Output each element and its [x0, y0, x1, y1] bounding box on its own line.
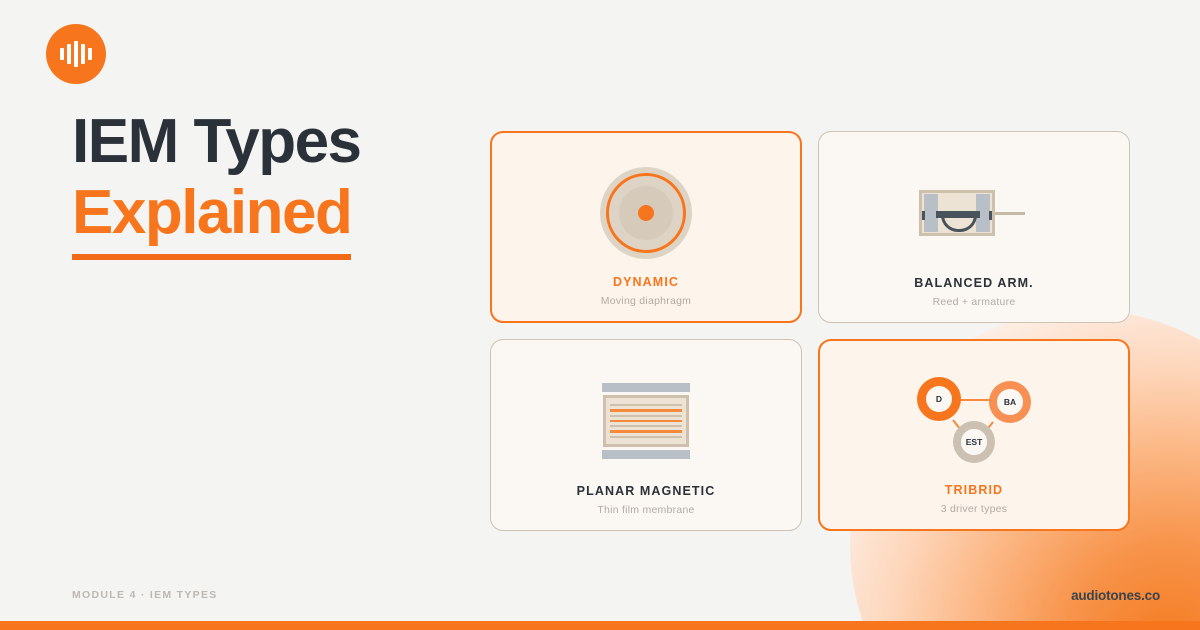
tribrid-node-balanced-armature: BA [989, 381, 1031, 423]
tribrid-node-electrostatic-label: EST [961, 429, 986, 454]
planar-trace [610, 415, 682, 417]
planar-trace-active [610, 409, 682, 412]
tribrid-link-d-ba [957, 399, 993, 401]
dynamic-driver-hub [638, 205, 654, 221]
tribrid-driver-icon: D BA EST [820, 359, 1128, 483]
card-tribrid[interactable]: D BA EST TRIBRID 3 driver types [818, 339, 1130, 531]
card-tribrid-subtitle: 3 driver types [820, 503, 1128, 515]
audio-waveform-icon-bar-5 [88, 48, 92, 60]
planar-magnet-plate-bottom [602, 450, 690, 459]
driver-type-grid: DYNAMIC Moving diaphragm [490, 131, 1130, 543]
footer-brand-url: audiotones.co [1071, 588, 1160, 603]
page-title-line-1: IEM Types [72, 110, 492, 173]
card-planar-magnetic[interactable]: PLANAR MAGNETIC Thin film membrane [490, 339, 802, 531]
planar-trace-active [610, 430, 682, 433]
audio-waveform-icon-bar-3 [74, 41, 78, 67]
planar-magnet-plate-top [602, 383, 690, 392]
card-planar-magnetic-title: PLANAR MAGNETIC [491, 484, 801, 498]
card-dynamic-title: DYNAMIC [492, 275, 800, 289]
card-dynamic-caption: DYNAMIC Moving diaphragm [492, 275, 800, 321]
planar-film-membrane [603, 395, 689, 447]
tribrid-node-dynamic-label: D [926, 386, 952, 412]
armature-pin-left [922, 211, 925, 220]
card-dynamic[interactable]: DYNAMIC Moving diaphragm [490, 131, 802, 323]
audio-waveform-icon-bar-2 [67, 44, 71, 64]
armature-coil [941, 215, 977, 232]
balanced-armature-icon [819, 150, 1129, 276]
tribrid-node-dynamic: D [917, 377, 961, 421]
brand-logo[interactable] [46, 24, 106, 84]
card-planar-magnetic-subtitle: Thin film membrane [491, 504, 801, 516]
footer-module-label: MODULE 4 · IEM TYPES [72, 589, 218, 601]
armature-sound-tube [995, 212, 1025, 215]
card-dynamic-subtitle: Moving diaphragm [492, 295, 800, 307]
audio-waveform-icon-bar-4 [81, 44, 85, 64]
tribrid-node-balanced-armature-label: BA [997, 389, 1022, 414]
planar-trace [610, 425, 682, 427]
card-balanced-armature-caption: BALANCED ARM. Reed + armature [819, 276, 1129, 322]
card-balanced-armature[interactable]: BALANCED ARM. Reed + armature [818, 131, 1130, 323]
card-balanced-armature-title: BALANCED ARM. [819, 276, 1129, 290]
armature-case [919, 190, 995, 236]
card-balanced-armature-subtitle: Reed + armature [819, 296, 1129, 308]
planar-magnetic-icon [491, 358, 801, 484]
dynamic-driver-icon [492, 151, 800, 275]
card-planar-magnetic-caption: PLANAR MAGNETIC Thin film membrane [491, 484, 801, 530]
armature-pin-right [989, 211, 992, 220]
card-tribrid-title: TRIBRID [820, 483, 1128, 497]
slide-canvas: IEM Types Explained DYNAMIC Moving diaph… [0, 0, 1200, 630]
page-title: IEM Types Explained [72, 110, 492, 260]
planar-trace [610, 436, 682, 438]
tribrid-node-electrostatic: EST [953, 421, 995, 463]
bottom-accent-bar [0, 621, 1200, 630]
card-tribrid-caption: TRIBRID 3 driver types [820, 483, 1128, 529]
page-title-line-2: Explained [72, 181, 351, 260]
planar-trace [610, 404, 682, 406]
audio-waveform-icon-bar-1 [60, 48, 64, 60]
planar-trace-active [610, 420, 682, 423]
